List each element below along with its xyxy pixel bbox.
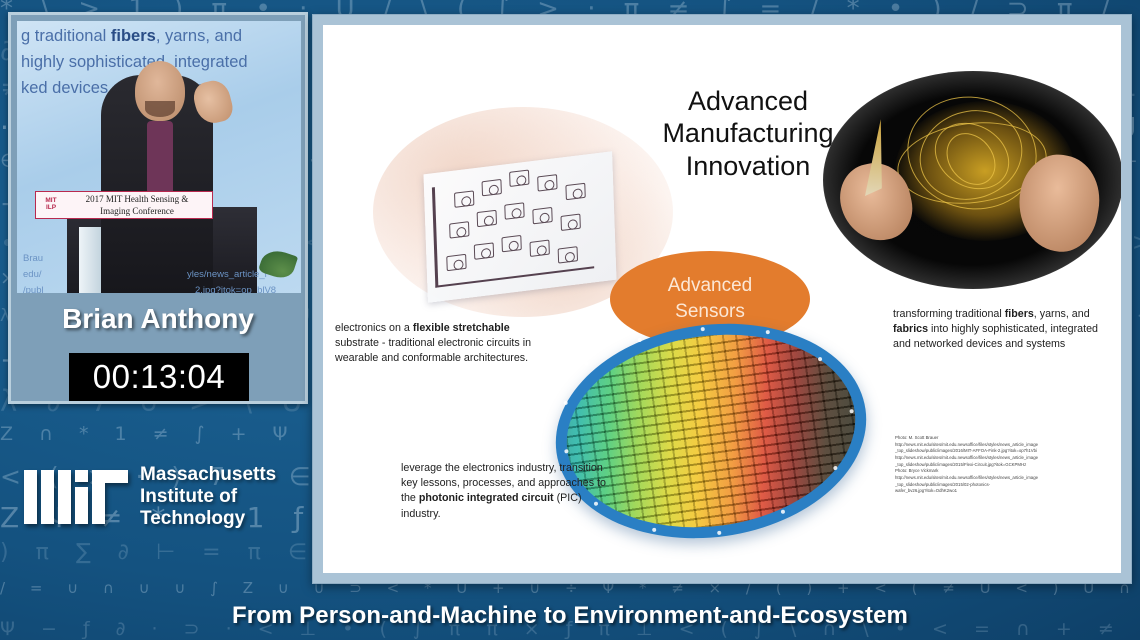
photo-credit-line: _top_slideshow/public/images/2015/Flexi-… bbox=[895, 462, 1121, 469]
circuit-cell bbox=[509, 169, 529, 186]
photo-credit-line: _top_slideshow/public/images/2015/02-pho… bbox=[895, 482, 1121, 489]
mit-bar-4 bbox=[75, 487, 88, 524]
conference-banner-line-1: 2017 MIT Health Sensing & bbox=[62, 193, 212, 205]
circuit-cell bbox=[532, 207, 552, 224]
mit-bar-group-2 bbox=[41, 470, 54, 524]
circuit-cell bbox=[477, 210, 497, 227]
mit-word-line-1: Massachusetts bbox=[140, 464, 276, 486]
mit-bar-1 bbox=[24, 470, 37, 524]
circuit-cell bbox=[565, 183, 585, 200]
mit-bar-2 bbox=[41, 470, 54, 524]
speaker-beard bbox=[145, 101, 175, 117]
mit-word-line-2: Institute of bbox=[140, 486, 276, 508]
mit-logo-mark bbox=[24, 470, 128, 524]
speaker-name: Brian Anthony bbox=[11, 303, 305, 335]
photo-credit-line: Photo: M. Scott Brauer bbox=[895, 435, 1121, 442]
speaker-panel: g traditional fibers, yarns, and highly … bbox=[8, 12, 308, 404]
mit-logo: Massachusetts Institute of Technology bbox=[24, 452, 314, 542]
video-slide-line-1: g traditional fibers, yarns, and bbox=[21, 27, 301, 46]
speaker-video[interactable]: g traditional fibers, yarns, and highly … bbox=[17, 21, 301, 293]
conference-banner-line-2: Imaging Conference bbox=[62, 205, 212, 217]
wafer-notch-dot bbox=[637, 338, 642, 343]
photo-credit-line: Photo: Bryce Vickmark bbox=[895, 468, 1121, 475]
mit-bar-group-4 bbox=[75, 470, 88, 524]
slide-title-line-1: Advanced bbox=[623, 85, 873, 117]
advanced-sensors-line-1: Advanced bbox=[668, 273, 753, 299]
presentation-timer: 00:13:04 bbox=[69, 353, 249, 401]
mit-dot bbox=[75, 470, 88, 482]
circuit-cell bbox=[560, 214, 580, 231]
caption-fibers: transforming traditional fibers, yarns, … bbox=[893, 307, 1115, 353]
caption-flexible-electronics: electronics on a flexible stretchable su… bbox=[335, 321, 535, 367]
wafer-notch-dot bbox=[700, 327, 705, 332]
video-url-left-1: Brau bbox=[23, 253, 43, 264]
conference-banner-text: 2017 MIT Health Sensing & Imaging Confer… bbox=[62, 193, 212, 217]
photo-credits: Photo: M. Scott Brauerhttp://news.mit.ed… bbox=[895, 435, 1121, 495]
mit-bar-group-5 bbox=[92, 470, 128, 524]
bottom-title-bar: From Person-and-Machine to Environment-a… bbox=[0, 592, 1140, 640]
photo-credit-line: http://news.mit.edu/sites/mit.edu.newsof… bbox=[895, 455, 1121, 462]
mit-ilp-logo: MIT ILP bbox=[36, 198, 62, 212]
circuit-cell bbox=[504, 202, 524, 219]
timer-value: 00:13:04 bbox=[93, 358, 225, 396]
presentation-subtitle: From Person-and-Machine to Environment-a… bbox=[232, 602, 908, 630]
circuit-cell bbox=[446, 254, 466, 271]
flexible-circuit-sheet bbox=[423, 151, 616, 303]
mit-wordmark: Massachusetts Institute of Technology bbox=[140, 464, 276, 530]
circuit-cell bbox=[501, 235, 521, 252]
slide-frame: Advanced Manufacturing Innovation Advanc… bbox=[312, 14, 1132, 584]
photo-credit-line: _top_slideshow/public/images/2016/MIT-AF… bbox=[895, 448, 1121, 455]
wafer-notch-dot bbox=[717, 531, 722, 536]
mit-bar-top bbox=[92, 470, 128, 483]
circuit-cell bbox=[474, 242, 494, 259]
photo-credit-line: http://news.mit.edu/sites/mit.edu.newsof… bbox=[895, 442, 1121, 449]
video-url-left-3: /publ bbox=[23, 285, 44, 293]
mit-bar-5 bbox=[92, 483, 105, 524]
circuit-cell bbox=[558, 246, 578, 263]
circuit-cell bbox=[454, 190, 474, 207]
caption-photonic-integrated-circuit: leverage the electronics industry, trans… bbox=[401, 461, 611, 522]
video-url-right-2: 2.jpg?itok=op_blV8 bbox=[195, 285, 276, 293]
photo-credit-line: http://news.mit.edu/sites/mit.edu.newsof… bbox=[895, 475, 1121, 482]
video-url-left-2: edu/ bbox=[23, 269, 42, 280]
video-url-right-1: yles/news_article_i bbox=[187, 269, 267, 280]
circuit-cell bbox=[449, 221, 469, 238]
mit-bar-3 bbox=[58, 470, 71, 524]
advanced-sensors-line-2: Sensors bbox=[675, 299, 745, 325]
photo-credit-line: wafer_bv26.jpg?itok=OdhK2wo1 bbox=[895, 488, 1121, 495]
conference-banner: MIT ILP 2017 MIT Health Sensing & Imagin… bbox=[35, 191, 213, 219]
optical-fiber-photo bbox=[823, 71, 1121, 289]
mit-word-line-3: Technology bbox=[140, 508, 276, 530]
podium-leg-left bbox=[79, 227, 101, 293]
circuit-cell bbox=[529, 240, 549, 257]
circuit-cell bbox=[482, 179, 502, 196]
circuit-cell bbox=[537, 174, 557, 191]
presentation-slide[interactable]: Advanced Manufacturing Innovation Advanc… bbox=[323, 25, 1121, 573]
